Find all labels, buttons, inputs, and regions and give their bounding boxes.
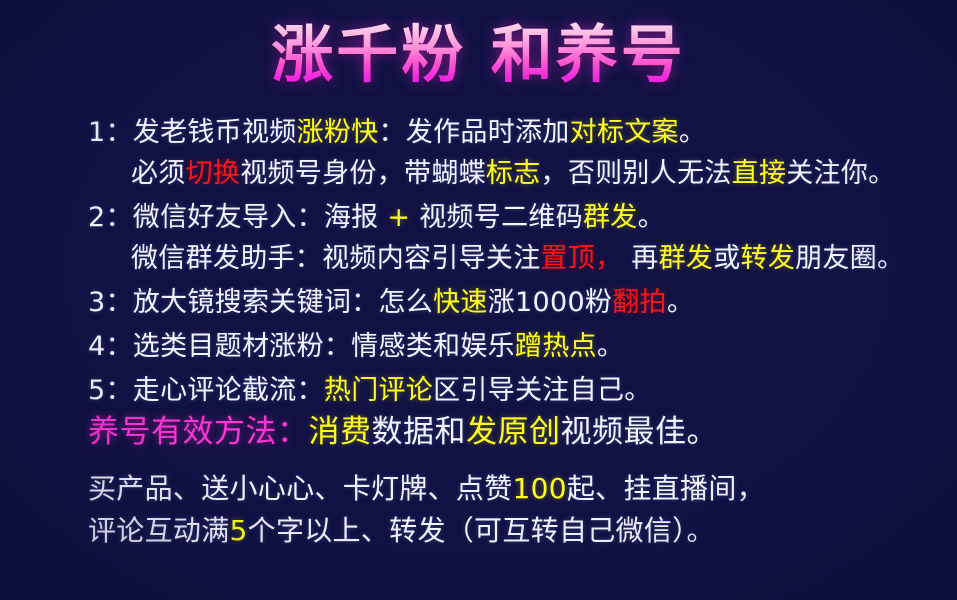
tip-number: 1： [88,112,133,153]
text-segment-white: 区引导关注自己。 [433,375,651,406]
footer-line: 买产品、送小心心、卡灯牌、点赞100起、挂直播间， [88,468,957,510]
text-segment-yellow: 直接 [732,158,787,189]
text-segment-white: 视频最佳。 [561,414,719,450]
text-segment-white: 选类目题材涨粉：情感类和娱乐 [133,331,515,362]
text-segment-yellow: 5 [230,514,248,547]
text-segment-white: 买产品、送小心心、卡灯牌、点赞 [88,472,513,505]
text-segment-yellow: 蹭热点 [515,331,597,362]
text-segment-yellow: 发原创 [466,414,561,450]
tip-item: 2：微信好友导入：海报 + 视频号二维码群发。微信群发助手：视频内容引导关注置顶… [88,197,948,279]
tip-number: 2： [88,197,133,238]
text-segment-white: 必须 [131,158,186,189]
tip-item: 1：发老钱币视频涨粉快：发作品时添加对标文案。必须切换视频号身份，带蝴蝶标志，否… [88,112,948,194]
tip-number: 3： [88,282,133,323]
tips-list: 1：发老钱币视频涨粉快：发作品时添加对标文案。必须切换视频号身份，带蝴蝶标志，否… [88,112,948,414]
footer-line: 评论互动满5个字以上、转发（可互转自己微信）。 [88,510,957,552]
text-segment-yellow: 消费 [309,414,372,450]
text-segment-white: 再 [622,243,658,274]
text-segment-white: ：发作品时添加 [379,117,570,148]
text-segment-white: 微信好友导入：海报 [133,202,388,233]
text-segment-white: ，否则别人无法 [541,158,732,189]
text-segment-red: 翻拍 [612,287,667,318]
text-segment-yellow: 快速 [433,287,488,318]
tip-item: 3：放大镜搜索关键词：怎么快速涨1000粉翻拍。 [88,282,948,323]
text-segment-yellow: 热门评论 [324,375,433,406]
text-segment-white: 发老钱币视频 [133,117,297,148]
text-segment-white: 。 [679,117,706,148]
text-segment-magenta: 养号有效方法： [88,414,309,450]
tip-primary-line: 2：微信好友导入：海报 + 视频号二维码群发。 [88,197,948,238]
tip-primary-line: 3：放大镜搜索关键词：怎么快速涨1000粉翻拍。 [88,282,948,323]
text-segment-red: 置顶， [541,243,623,274]
tip-primary-line: 4：选类目题材涨粉：情感类和娱乐蹭热点。 [88,326,948,367]
title-container: 涨千粉 和养号 [0,20,957,89]
text-segment-yellow: 涨粉快 [297,117,379,148]
text-segment-white: 涨1000粉 [488,287,613,318]
text-segment-white: 走心评论截流： [133,375,324,406]
tip-number: 4： [88,326,133,367]
tip-item: 4：选类目题材涨粉：情感类和娱乐蹭热点。 [88,326,948,367]
text-segment-white: 个字以上、转发（可互转自己微信）。 [248,514,715,547]
text-segment-white: 数据和 [372,414,467,450]
text-segment-white: 或 [713,243,740,274]
text-segment-yellow: 转发 [741,243,796,274]
text-segment-red: 切换 [186,158,241,189]
text-segment-white: 。 [667,287,694,318]
poster-title: 涨千粉 和养号 [271,20,686,89]
text-segment-white: 。 [638,202,665,233]
text-segment-yellow: + [387,202,410,233]
text-segment-yellow: 群发 [659,243,714,274]
text-segment-yellow: 标志 [486,158,541,189]
tip-primary-line: 1：发老钱币视频涨粉快：发作品时添加对标文案。 [88,112,948,153]
text-segment-white: 评论互动满 [88,514,230,547]
text-segment-white: 关注你。 [786,158,895,189]
highlight-heading: 养号有效方法：消费数据和发原创视频最佳。 [88,410,948,454]
tip-number: 5： [88,370,133,411]
text-segment-white: 视频号二维码 [410,202,583,233]
text-segment-white: 视频号身份，带蝴蝶 [240,158,486,189]
text-segment-white: 起、挂直播间， [567,472,765,505]
text-segment-yellow: 群发 [583,202,638,233]
text-segment-white: 微信群发助手：视频内容引导关注 [131,243,541,274]
footer-paragraph: 买产品、送小心心、卡灯牌、点赞100起、挂直播间，评论互动满5个字以上、转发（可… [88,468,957,552]
text-segment-white: 放大镜搜索关键词：怎么 [133,287,433,318]
tip-continuation-line: 微信群发助手：视频内容引导关注置顶， 再群发或转发朋友圈。 [88,238,948,279]
tip-item: 5：走心评论截流：热门评论区引导关注自己。 [88,370,948,411]
text-segment-yellow: 对标文案 [570,117,679,148]
tip-continuation-line: 必须切换视频号身份，带蝴蝶标志，否则别人无法直接关注你。 [88,153,948,194]
text-segment-white: 。 [597,331,624,362]
poster-root: 涨千粉 和养号 1：发老钱币视频涨粉快：发作品时添加对标文案。必须切换视频号身份… [0,0,957,600]
text-segment-white: 朋友圈。 [795,243,904,274]
text-segment-yellow: 100 [513,472,567,505]
tip-primary-line: 5：走心评论截流：热门评论区引导关注自己。 [88,370,948,411]
